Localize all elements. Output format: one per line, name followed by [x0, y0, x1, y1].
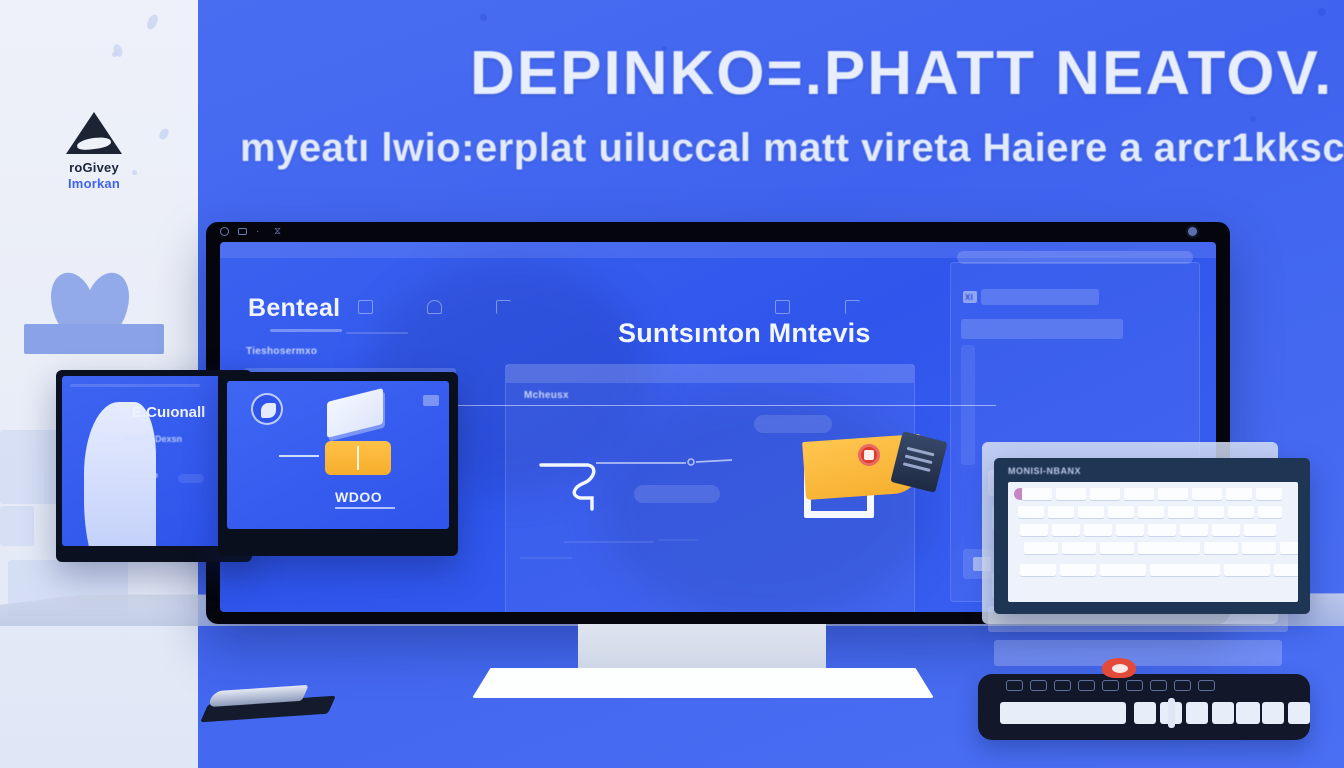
- key-row: [1024, 542, 1298, 554]
- window-field: [961, 345, 975, 465]
- decor-line: [270, 329, 342, 332]
- rectangle-icon: [238, 228, 247, 235]
- console-key[interactable]: [1198, 680, 1215, 691]
- swirl-logo-icon: [251, 393, 283, 425]
- window-field[interactable]: [981, 289, 1099, 305]
- decor-line: [70, 384, 200, 387]
- console-button-row[interactable]: [1006, 680, 1215, 691]
- panel-divider: [426, 405, 996, 406]
- tablet-label-rule: [335, 507, 395, 509]
- console-key[interactable]: [1054, 680, 1071, 691]
- decor-line: [346, 332, 408, 334]
- right-window-body: [1008, 482, 1298, 602]
- console-key[interactable]: [1236, 702, 1258, 724]
- panel-pill: [754, 415, 832, 433]
- console-slab[interactable]: [1000, 702, 1126, 724]
- panel-speck: [158, 127, 171, 141]
- monitor-stand-neck: [578, 624, 826, 672]
- potted-plant-icon: [24, 272, 164, 352]
- user-icon[interactable]: [427, 300, 442, 314]
- dot-icon: ·: [256, 227, 265, 236]
- background-speck: [1318, 8, 1326, 16]
- decor-rule: [658, 539, 698, 541]
- console-key[interactable]: [1212, 702, 1234, 724]
- panel-speck: [145, 13, 160, 31]
- app-brand-label: Benteal: [248, 294, 340, 323]
- nav-icon-group[interactable]: [358, 300, 511, 314]
- background-speck: [480, 14, 487, 21]
- window-field[interactable]: [961, 319, 1123, 339]
- console-key[interactable]: [1078, 680, 1095, 691]
- console-key[interactable]: [1030, 680, 1047, 691]
- pin-icon[interactable]: [845, 300, 860, 314]
- console-key-group[interactable]: [1236, 702, 1310, 724]
- orange-card-icon: [325, 441, 391, 475]
- laptop-line-2: Kenno: [130, 470, 158, 480]
- console-key[interactable]: [1186, 702, 1208, 724]
- panel-header-bar: [506, 365, 914, 383]
- keyboard-console-icon: [978, 674, 1310, 740]
- monitor-icon[interactable]: [358, 300, 373, 314]
- bezel-icon-group: · ⧖: [220, 227, 283, 236]
- console-key[interactable]: [1150, 680, 1167, 691]
- circle-icon: [220, 227, 229, 236]
- background-speck: [1250, 116, 1256, 122]
- envelope-icon: [798, 432, 938, 532]
- illustration-canvas: roGivey Imorkan DEPINKO=.PHATT NEATOV. m…: [0, 0, 1344, 768]
- hourglass-icon: ⧖: [274, 227, 283, 236]
- nav-icon-group-right[interactable]: [775, 300, 860, 314]
- decor-rule: [520, 557, 572, 559]
- console-key[interactable]: [1006, 680, 1023, 691]
- panel-decor-block: [0, 506, 34, 546]
- logo-name: roGivey: [34, 160, 154, 176]
- console-key[interactable]: [1134, 702, 1156, 724]
- key-row: [1018, 506, 1282, 518]
- logo-subname: Imorkan: [34, 176, 154, 192]
- red-accent-icon: [1102, 658, 1136, 678]
- console-stick[interactable]: [1168, 698, 1175, 728]
- console-key[interactable]: [1126, 680, 1143, 691]
- tablet-device: WDOO: [218, 372, 458, 556]
- decor-line: [178, 474, 204, 483]
- camera-icon: [1188, 227, 1197, 236]
- panel-label: Mcheusx: [524, 390, 569, 401]
- key-row: [1020, 564, 1298, 576]
- flag-icon[interactable]: [496, 300, 511, 314]
- key-row: [1022, 488, 1282, 500]
- tablet-label: WDOO: [335, 489, 382, 505]
- monitor-sub-label: Tieshosermxo: [246, 346, 317, 357]
- brand-logo[interactable]: roGivey Imorkan: [34, 112, 154, 193]
- wax-seal-icon: [858, 444, 880, 466]
- panel-speck: [112, 52, 117, 57]
- console-key[interactable]: [1288, 702, 1310, 724]
- badge-label: XI: [965, 293, 973, 302]
- tablet-screen: WDOO: [227, 381, 449, 529]
- stapler-icon: [206, 686, 334, 726]
- window-title-bar: [957, 251, 1193, 264]
- paper-stack-icon: [327, 388, 383, 438]
- right-dark-window: MONISI-NBANX: [994, 458, 1310, 614]
- key-row: [1020, 524, 1276, 536]
- chart-icon[interactable]: [775, 300, 790, 314]
- laptop-title: E.Cuıonall: [132, 404, 205, 421]
- tablet-corner-chip: [423, 395, 439, 406]
- console-key[interactable]: [1102, 680, 1119, 691]
- decor-rule: [564, 541, 654, 543]
- monitor-stand-base: [472, 668, 934, 698]
- right-window-title: MONISI-NBANX: [1008, 466, 1081, 476]
- screen-center-title: Suntsınton Mntevis: [618, 318, 871, 349]
- panel-decor-block: [0, 430, 60, 504]
- arrow-right-icon: [279, 455, 319, 457]
- page-headline: DEPINKO=.PHATT NEATOV.: [470, 38, 1330, 109]
- console-key[interactable]: [1262, 702, 1284, 724]
- console-key[interactable]: [1174, 680, 1191, 691]
- mountain-peak-icon: [66, 112, 122, 156]
- laptop-line-1: Ibauc7 Dexsn: [124, 434, 182, 444]
- page-subheadline: myeatı lwio:erplat uiluccal matt vireta …: [240, 126, 1344, 171]
- signature-squiggle-icon: [536, 453, 776, 513]
